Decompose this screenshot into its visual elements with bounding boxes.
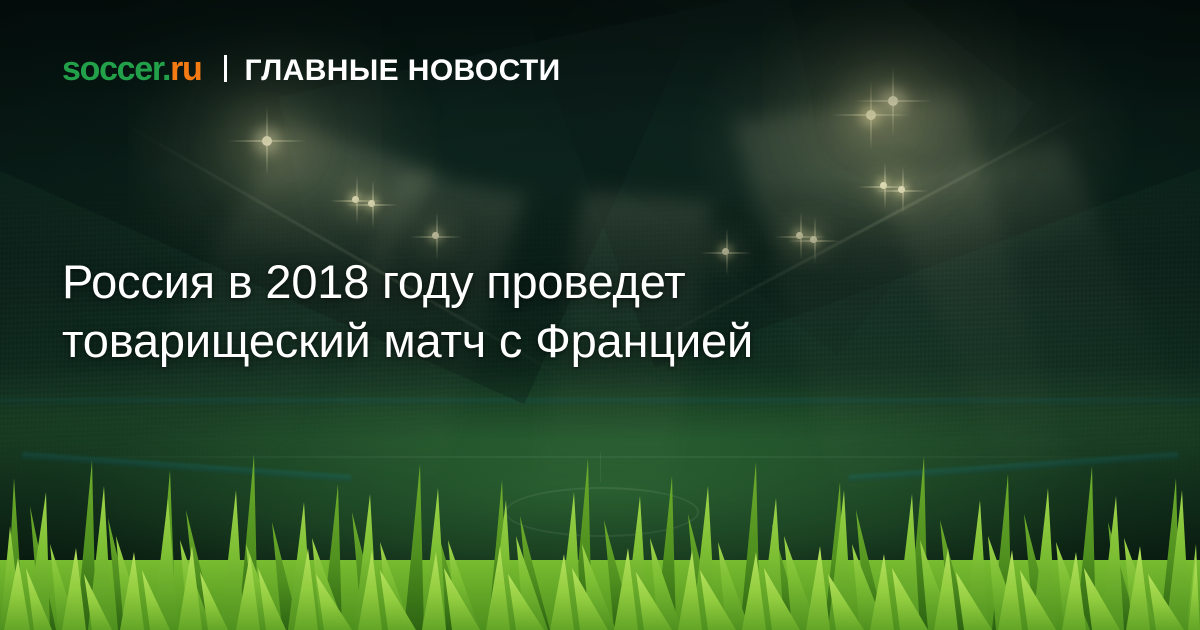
soccer-ru-logo[interactable]: soccer.ru: [62, 52, 202, 86]
floodlight-4: [432, 232, 439, 239]
floodlight-10: [810, 236, 817, 243]
social-share-card: soccer.ru ГЛАВНЫЕ НОВОСТИ Россия в 2018 …: [0, 0, 1200, 630]
floodlight-1: [262, 136, 272, 146]
card-header: soccer.ru ГЛАВНЫЕ НОВОСТИ: [62, 52, 561, 86]
logo-tld-text: ru: [170, 50, 201, 88]
floodlight-8: [898, 186, 905, 193]
header-divider: [224, 55, 227, 82]
floodlight-9: [796, 232, 803, 239]
logo-dot: .: [162, 50, 170, 88]
page-title: Россия в 2018 году проведет товарищеский…: [62, 252, 992, 370]
floodlight-2: [352, 196, 359, 203]
floodlight-7: [880, 182, 887, 189]
section-title: ГЛАВНЫЕ НОВОСТИ: [245, 56, 561, 86]
logo-name-text: soccer: [62, 50, 162, 88]
floodlight-6: [888, 96, 898, 106]
floodlight-5: [866, 110, 876, 120]
floodlight-3: [368, 200, 375, 207]
